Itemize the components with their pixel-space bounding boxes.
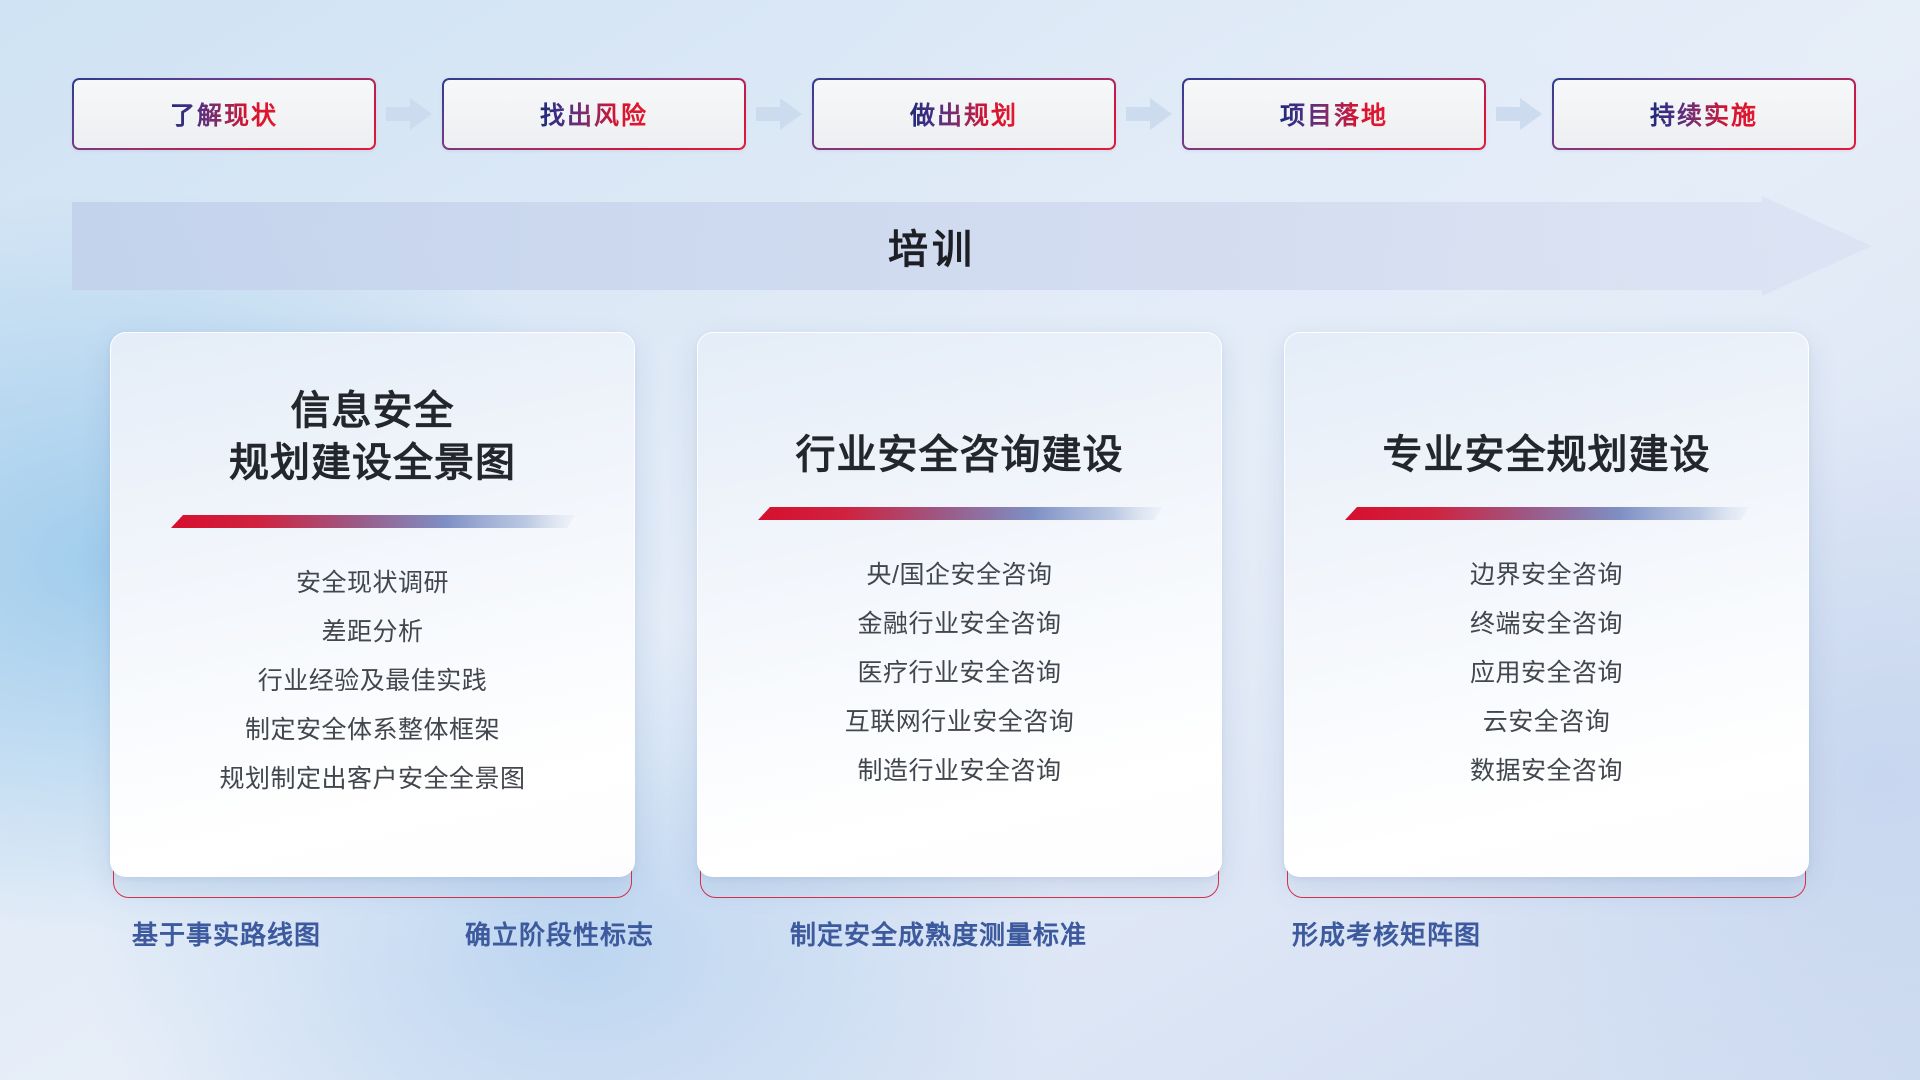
caption-4: 形成考核矩阵图 — [1292, 915, 1481, 952]
step-arrow-icon-4 — [1493, 94, 1545, 134]
step-label-3: 做出规划 — [910, 96, 1018, 132]
card-row: 信息安全 规划建设全景图 — [110, 332, 1810, 877]
list-item: 应用安全咨询 — [1470, 652, 1623, 694]
list-item: 差距分析 — [321, 611, 423, 653]
list-item: 安全现状调研 — [296, 562, 449, 604]
card-wrap-2: 行业安全咨询建设 — [697, 332, 1222, 877]
list-item: 互联网行业安全咨询 — [845, 701, 1075, 743]
card-1[interactable]: 信息安全 规划建设全景图 — [110, 332, 635, 877]
training-banner: 培训 — [72, 196, 1872, 296]
process-step-row: 了解现状 找出风险 做出规划 项目落地 持续实施 — [72, 78, 1862, 150]
list-item: 终端安全咨询 — [1470, 603, 1623, 645]
step-label-2: 找出风险 — [540, 96, 648, 132]
step-label-4: 项目落地 — [1280, 96, 1388, 132]
card-3[interactable]: 专业安全规划建设 — [1284, 332, 1809, 877]
card-divider-3 — [1345, 507, 1749, 520]
banner-title-wrap: 培训 — [72, 196, 1792, 296]
card-title-3: 专业安全规划建设 — [1383, 429, 1711, 481]
list-item: 金融行业安全咨询 — [857, 603, 1061, 645]
step-arrow-icon-1 — [383, 94, 435, 134]
list-item: 云安全咨询 — [1483, 701, 1611, 743]
list-item: 行业经验及最佳实践 — [258, 660, 488, 702]
slide-canvas: 了解现状 找出风险 做出规划 项目落地 持续实施 — [0, 0, 1920, 1080]
list-item: 边界安全咨询 — [1470, 554, 1623, 596]
card-title-2: 行业安全咨询建设 — [796, 429, 1124, 481]
card-list-3: 边界安全咨询 终端安全咨询 应用安全咨询 云安全咨询 数据安全咨询 — [1319, 554, 1774, 792]
list-item: 制造行业安全咨询 — [857, 750, 1061, 792]
list-item: 制定安全体系整体框架 — [245, 709, 500, 751]
step-box-2[interactable]: 找出风险 — [442, 78, 746, 150]
step-arrow-icon-2 — [753, 94, 805, 134]
card-wrap-1: 信息安全 规划建设全景图 — [110, 332, 635, 877]
card-list-2: 央/国企安全咨询 金融行业安全咨询 医疗行业安全咨询 互联网行业安全咨询 制造行… — [732, 554, 1187, 792]
caption-row: 基于事实路线图 确立阶段性标志 制定安全成熟度测量标准 形成考核矩阵图 — [0, 915, 1920, 965]
card-divider-1 — [171, 515, 575, 528]
card-divider-2 — [758, 507, 1162, 520]
card-2[interactable]: 行业安全咨询建设 — [697, 332, 1222, 877]
step-arrow-icon-3 — [1123, 94, 1175, 134]
list-item: 央/国企安全咨询 — [867, 554, 1053, 596]
card-wrap-3: 专业安全规划建设 — [1284, 332, 1809, 877]
caption-1: 基于事实路线图 — [132, 915, 321, 952]
list-item: 数据安全咨询 — [1470, 750, 1623, 792]
list-item: 规划制定出客户安全全景图 — [219, 758, 525, 800]
banner-title: 培训 — [888, 217, 976, 275]
step-box-5[interactable]: 持续实施 — [1552, 78, 1856, 150]
step-label-5: 持续实施 — [1650, 96, 1758, 132]
card-list-1: 安全现状调研 差距分析 行业经验及最佳实践 制定安全体系整体框架 规划制定出客户… — [145, 562, 600, 800]
caption-3: 制定安全成熟度测量标准 — [790, 915, 1087, 952]
step-box-1[interactable]: 了解现状 — [72, 78, 376, 150]
step-box-4[interactable]: 项目落地 — [1182, 78, 1486, 150]
step-box-3[interactable]: 做出规划 — [812, 78, 1116, 150]
step-label-1: 了解现状 — [170, 96, 278, 132]
caption-2: 确立阶段性标志 — [465, 915, 654, 952]
list-item: 医疗行业安全咨询 — [857, 652, 1061, 694]
card-title-1: 信息安全 规划建设全景图 — [229, 385, 516, 489]
